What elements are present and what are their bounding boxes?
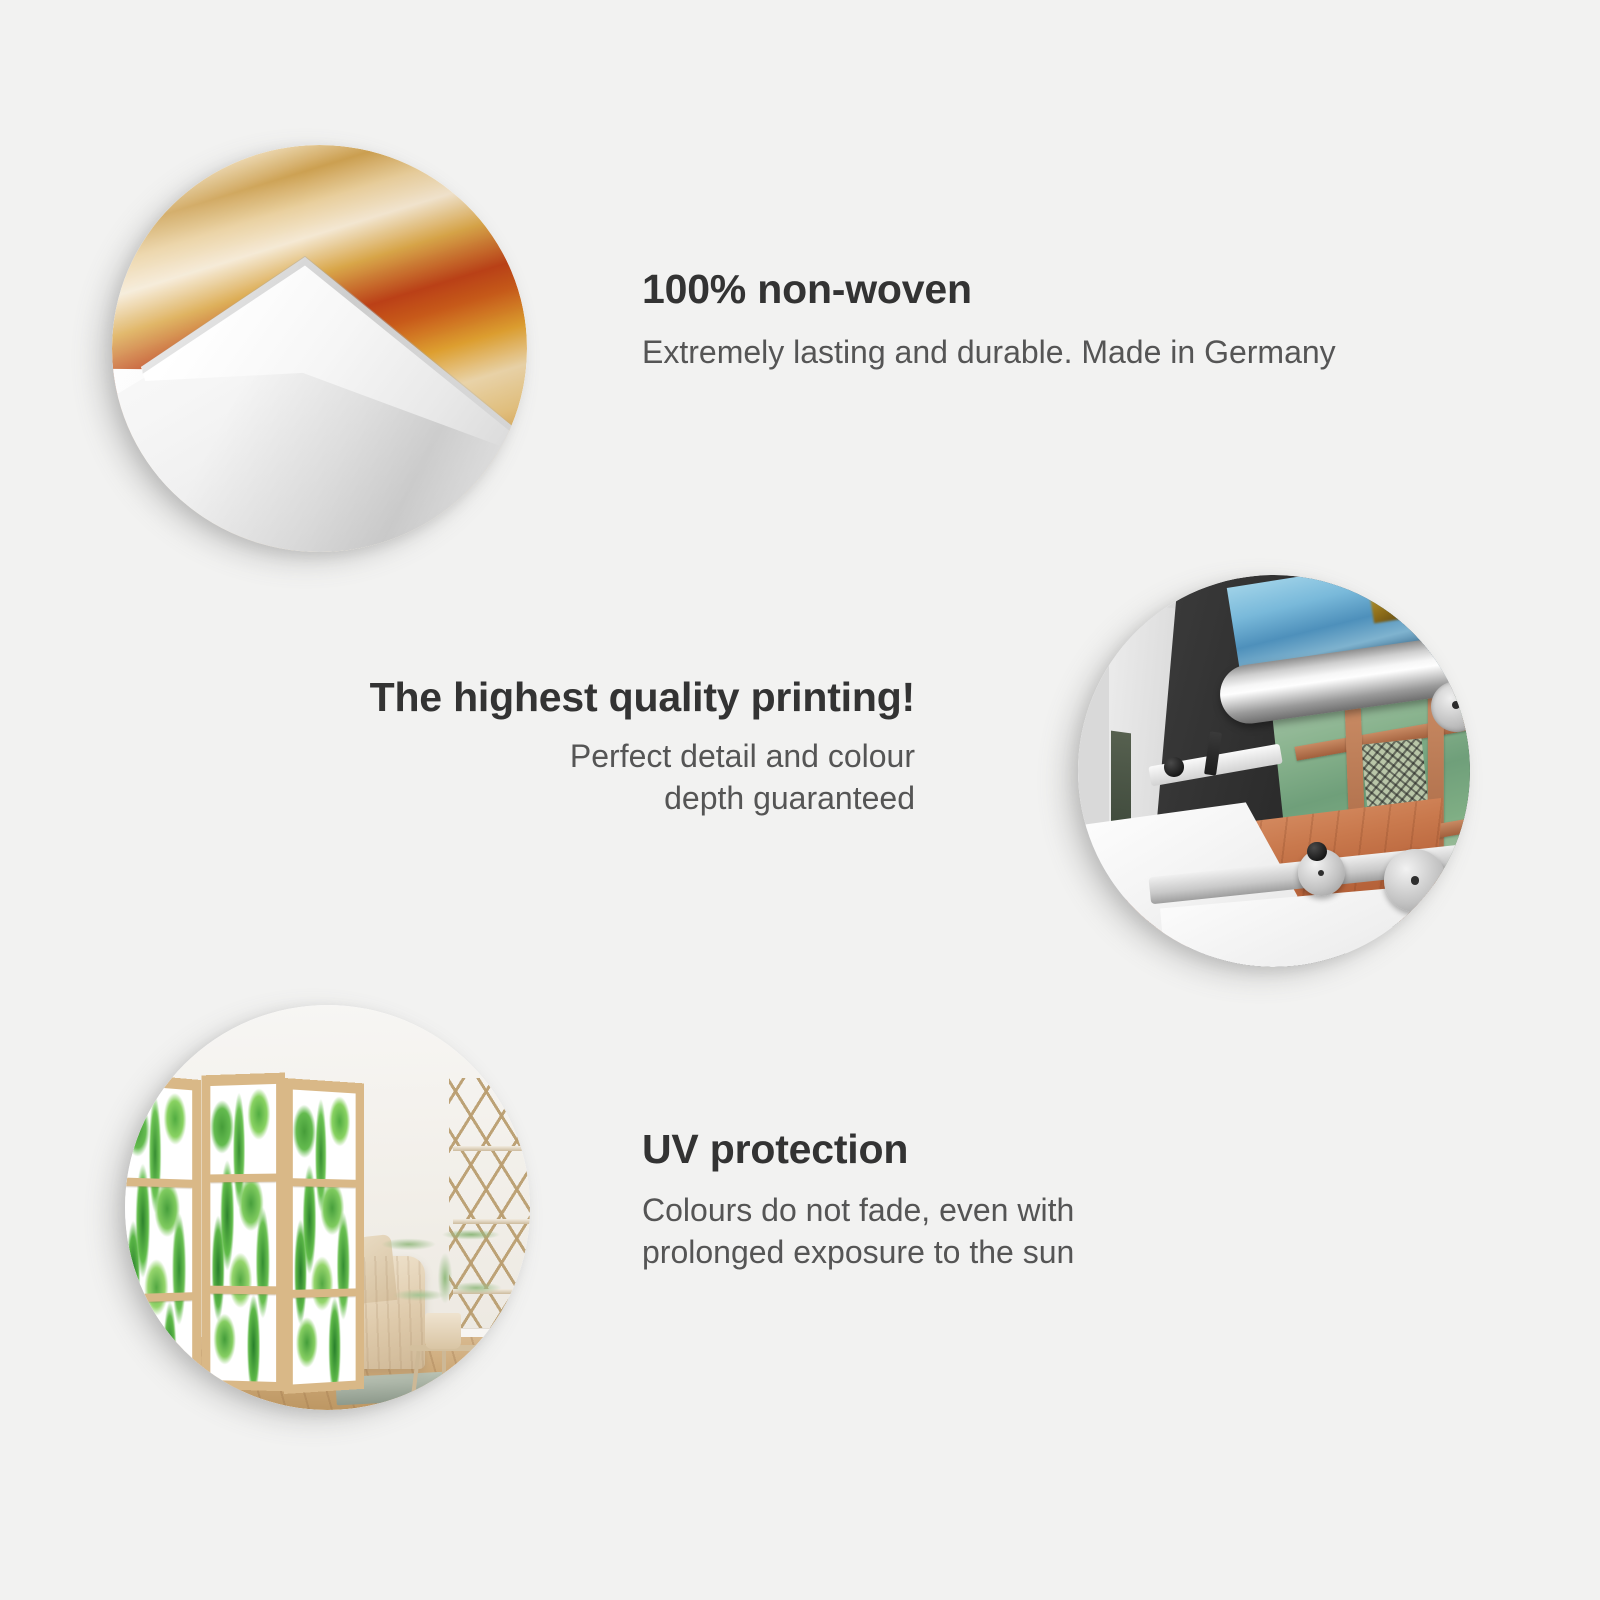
feature-image-printing bbox=[1078, 575, 1470, 967]
divider-panel bbox=[125, 1073, 201, 1404]
feature-body-printing: Perfect detail and colour depth guarante… bbox=[235, 735, 915, 819]
lattice-shelf-board bbox=[453, 1146, 530, 1151]
divider-panel bbox=[201, 1072, 284, 1391]
tropical-leaf-pattern bbox=[293, 1089, 356, 1384]
tropical-leaf-pattern bbox=[125, 1085, 192, 1393]
feature-image-uv-protection bbox=[125, 1005, 530, 1410]
press-wheel-hub bbox=[1411, 876, 1419, 884]
side-table bbox=[409, 1345, 482, 1394]
divider-crossbar bbox=[125, 1177, 192, 1187]
side-table-leg bbox=[412, 1351, 421, 1394]
feature-heading-uv-protection: UV protection bbox=[642, 1128, 1282, 1171]
divider-panel bbox=[284, 1078, 364, 1394]
feature-body-uv-protection: Colours do not fade, even with prolonged… bbox=[642, 1189, 1282, 1273]
tropical-leaf-pattern bbox=[210, 1084, 275, 1382]
feature-infographic: 100% non-woven Extremely lasting and dur… bbox=[0, 0, 1600, 1600]
feature-body-non-woven: Extremely lasting and durable. Made in G… bbox=[642, 331, 1342, 373]
printing-press-illustration bbox=[1078, 575, 1470, 967]
folding-room-divider bbox=[125, 1080, 368, 1396]
side-table-leg bbox=[442, 1351, 446, 1394]
feature-text-printing: The highest quality printing! Perfect de… bbox=[235, 676, 915, 820]
press-knob bbox=[1164, 757, 1184, 777]
feature-heading-non-woven: 100% non-woven bbox=[642, 268, 1342, 311]
wallpaper-peel-illustration bbox=[112, 145, 527, 552]
divider-crossbar bbox=[210, 1173, 275, 1182]
press-knob bbox=[1307, 842, 1327, 862]
press-wheel-hub bbox=[1318, 870, 1324, 876]
room-scene-illustration bbox=[125, 1005, 530, 1410]
divider-crossbar bbox=[293, 1178, 356, 1187]
side-table-leg bbox=[469, 1351, 478, 1394]
press-wheel bbox=[1384, 849, 1447, 912]
divider-crossbar bbox=[210, 1286, 275, 1295]
potted-palm-fronds bbox=[380, 1208, 510, 1330]
feature-text-uv-protection: UV protection Colours do not fade, even … bbox=[642, 1128, 1282, 1274]
feature-image-non-woven bbox=[112, 145, 527, 552]
plant-pot bbox=[425, 1313, 461, 1349]
feature-heading-printing: The highest quality printing! bbox=[235, 676, 915, 719]
feature-text-non-woven: 100% non-woven Extremely lasting and dur… bbox=[642, 268, 1342, 373]
press-roller-hub bbox=[1452, 701, 1460, 709]
divider-crossbar bbox=[293, 1289, 356, 1298]
